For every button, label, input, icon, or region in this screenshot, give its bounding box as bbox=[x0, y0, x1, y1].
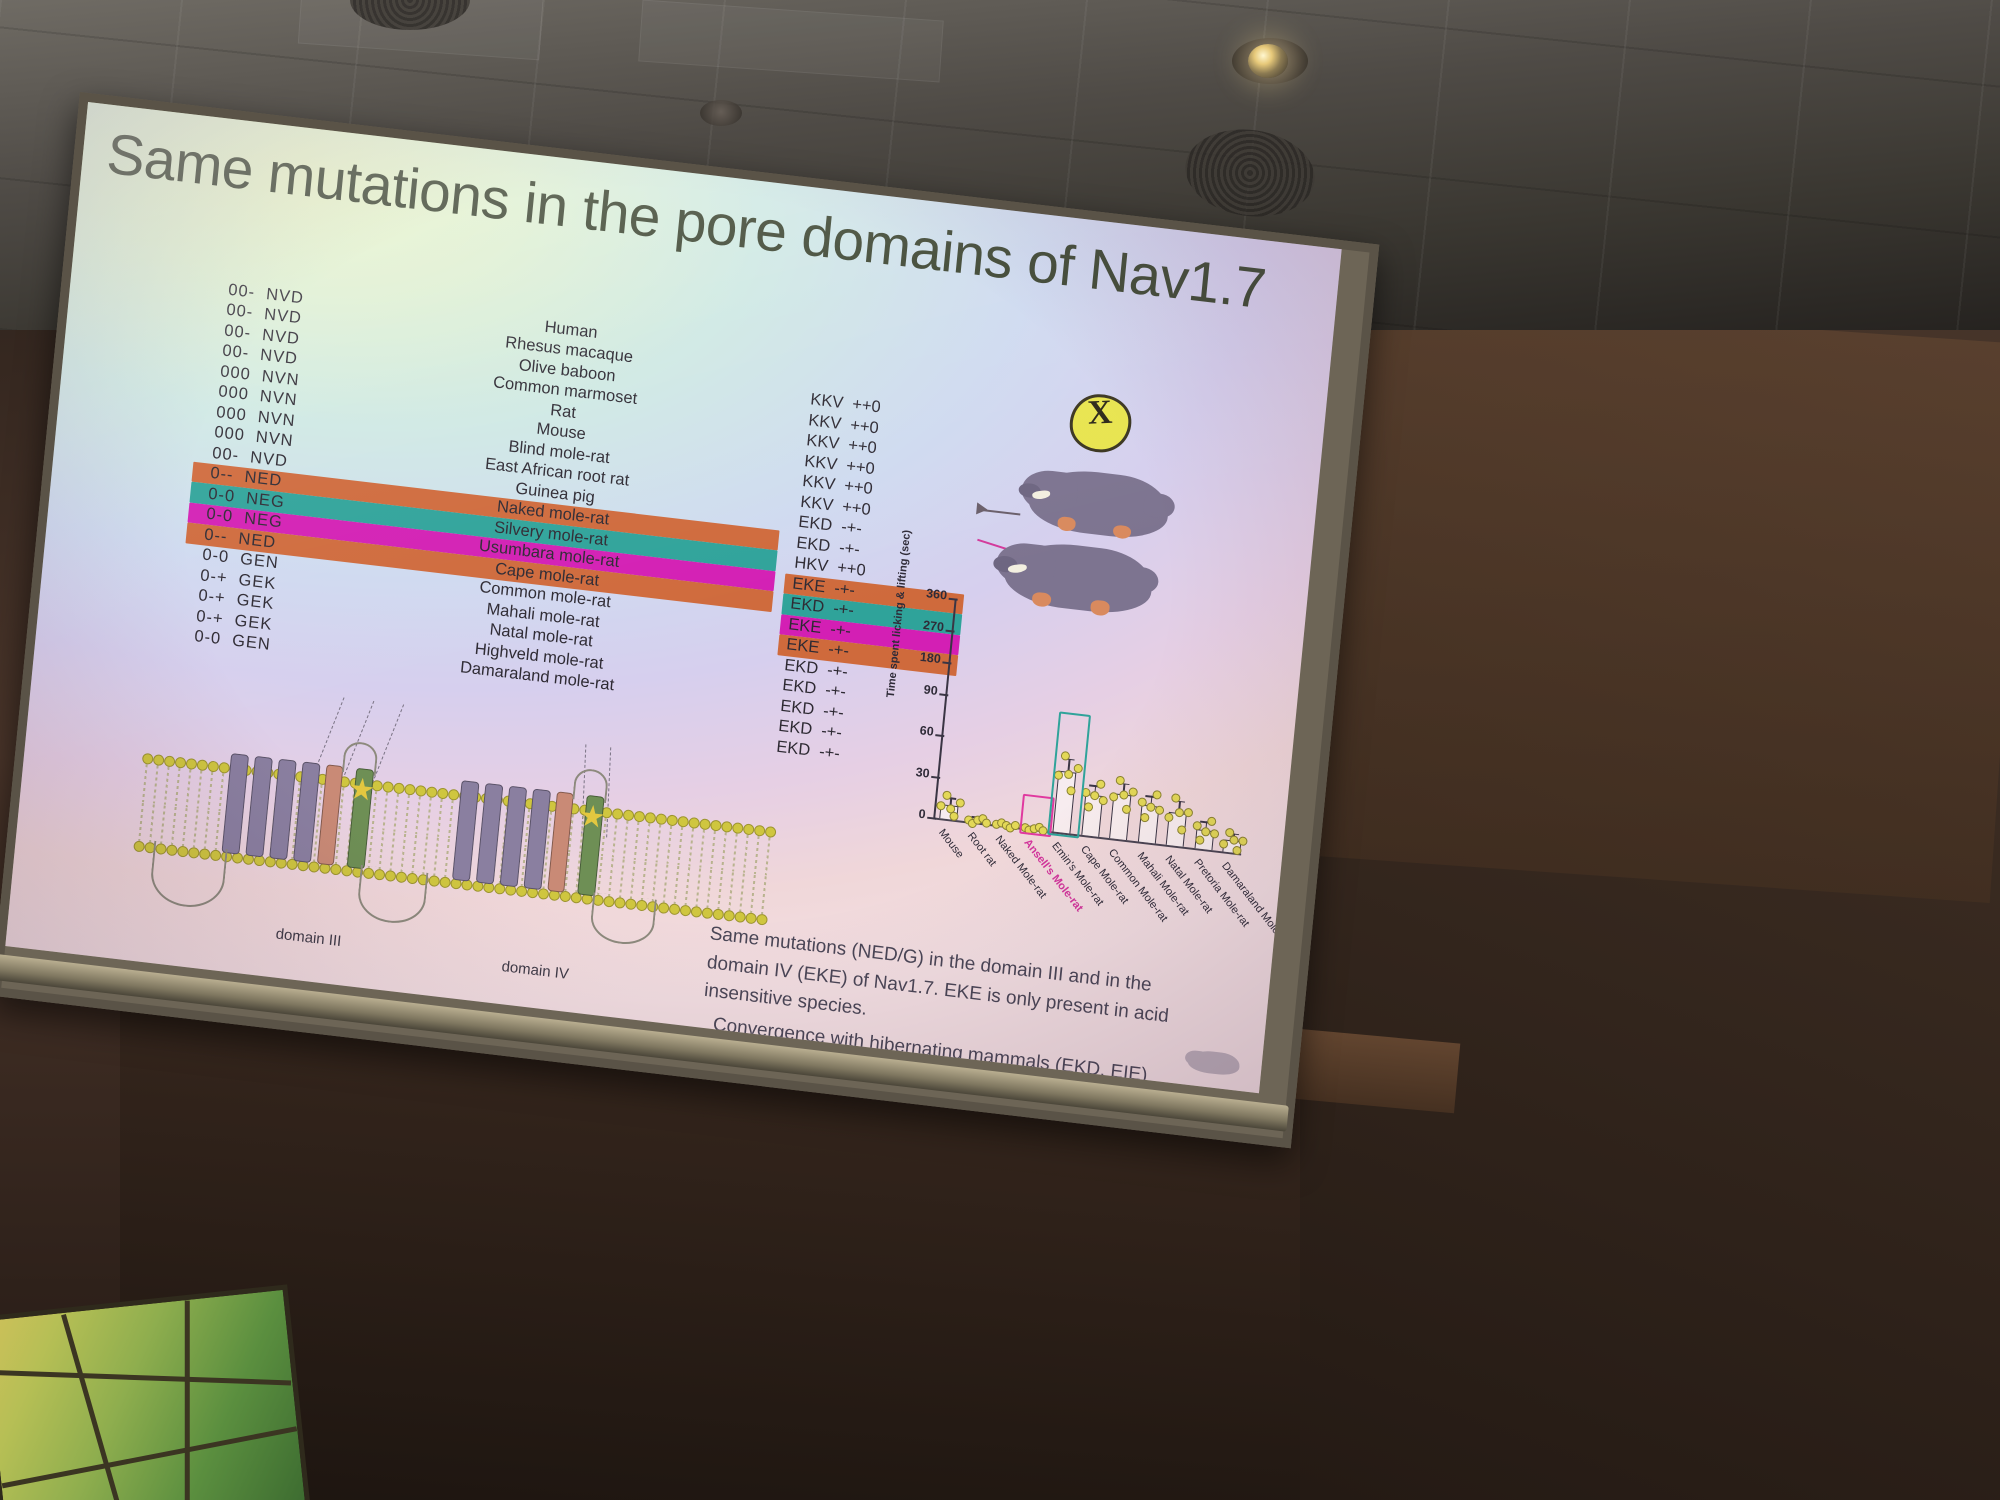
behaviour-bar-chart: Time spent licking & lifting (sec) 30609… bbox=[867, 580, 1288, 964]
c-terminal-loop bbox=[589, 892, 657, 947]
data-point bbox=[1206, 816, 1216, 826]
spotlight-icon bbox=[1248, 44, 1288, 78]
data-point bbox=[1155, 805, 1165, 815]
y-tick bbox=[939, 693, 948, 696]
projection-screen: Same mutations in the pore domains of Na… bbox=[0, 92, 1361, 1128]
n-terminal-loop bbox=[148, 841, 228, 911]
y-tick bbox=[949, 598, 958, 601]
pore-loop bbox=[342, 740, 379, 776]
y-tick bbox=[935, 734, 944, 737]
toxin-x-badge: X bbox=[1068, 393, 1133, 454]
domain-4-label: domain IV bbox=[501, 958, 570, 983]
data-point bbox=[1152, 790, 1162, 800]
wall-panel-right bbox=[1311, 297, 2000, 903]
data-point bbox=[1210, 829, 1220, 839]
y-tick-label: 360 bbox=[907, 584, 948, 603]
toxin-x-label: X bbox=[1071, 393, 1129, 433]
lipid-icon bbox=[756, 876, 770, 926]
y-tick-label: 60 bbox=[893, 721, 934, 740]
y-tick-label: 180 bbox=[900, 648, 941, 667]
stained-glass-panel bbox=[0, 1284, 311, 1500]
membrane-topology-diagram: ★ ★ domain III domain IV bbox=[128, 713, 762, 974]
y-tick bbox=[945, 630, 954, 633]
data-point bbox=[1095, 779, 1105, 789]
domain-3-label: domain III bbox=[275, 925, 342, 950]
data-point bbox=[1099, 795, 1109, 805]
alignment-table: 00- NVDHuman00- NVDRhesus macaque00- NVD… bbox=[176, 278, 798, 714]
data-point bbox=[1229, 835, 1239, 845]
y-tick-label: 0 bbox=[885, 803, 926, 822]
data-point bbox=[1177, 825, 1187, 835]
y-tick bbox=[927, 817, 936, 820]
pore-loop bbox=[572, 767, 609, 803]
y-tick bbox=[942, 661, 951, 664]
slide-surface: Same mutations in the pore domains of Na… bbox=[5, 102, 1341, 1093]
y-tick-label: 270 bbox=[903, 616, 944, 635]
data-point bbox=[1183, 807, 1193, 817]
ceiling-fixture bbox=[700, 100, 742, 126]
y-tick-label: 90 bbox=[897, 679, 938, 698]
y-tick bbox=[931, 776, 940, 779]
y-tick-label: 30 bbox=[889, 762, 930, 781]
mole-rat-illustration bbox=[1026, 465, 1171, 543]
x-tick-label: Mouse bbox=[936, 827, 966, 861]
pointer-arrowhead bbox=[976, 502, 988, 515]
x-tick-label: Root rat bbox=[964, 830, 998, 868]
photo-of-lecture-hall: Same mutations in the pore domains of Na… bbox=[0, 0, 2000, 1500]
data-point bbox=[955, 798, 965, 808]
data-point bbox=[982, 818, 992, 828]
intracellular-linker bbox=[356, 865, 429, 927]
